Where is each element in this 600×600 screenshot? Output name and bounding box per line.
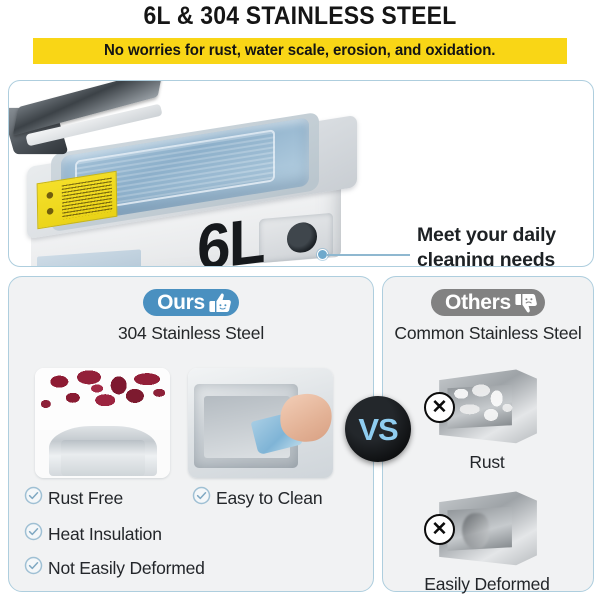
check-circle-icon	[24, 556, 43, 580]
x-circle-icon: ✕	[424, 392, 455, 423]
callout-line	[326, 254, 410, 256]
check-circle-icon	[24, 522, 43, 546]
x-circle-icon: ✕	[424, 514, 455, 545]
volume-overlay-label: 6L	[197, 208, 263, 267]
others-item-label: Rust	[382, 452, 592, 473]
feature-label: Rust Free	[48, 488, 123, 509]
subtitle-banner-text: No worries for rust, water scale, erosio…	[104, 42, 495, 60]
infographic-page: 6L & 304 STAINLESS STEEL No worries for …	[0, 0, 600, 600]
subtitle-banner: No worries for rust, water scale, erosio…	[33, 38, 567, 64]
photo-rust-free	[35, 368, 170, 478]
vs-label: VS	[358, 414, 397, 445]
others-badge-label: Others	[445, 291, 511, 315]
hero-panel: 6L Meet your daily cleaning needs	[8, 80, 594, 267]
warning-symbol-icon	[43, 187, 58, 221]
others-badge-row: Others	[383, 289, 593, 316]
thumbs-down-icon	[514, 292, 539, 314]
others-item-label: Easily Deformed	[382, 574, 592, 595]
others-badge: Others	[431, 289, 545, 316]
feature-heat-insulation: Heat Insulation	[24, 522, 162, 546]
rust-texture	[447, 382, 518, 429]
vs-badge: VS	[345, 396, 411, 462]
ours-badge-row: Ours	[9, 289, 373, 316]
feature-easy-to-clean: Easy to Clean	[192, 486, 322, 510]
ours-subtitle: 304 Stainless Steel	[9, 323, 373, 344]
rust-stain-spots	[35, 368, 170, 430]
ours-badge: Ours	[143, 289, 239, 316]
feature-label: Not Easily Deformed	[48, 558, 205, 579]
ours-badge-label: Ours	[157, 291, 205, 315]
callout-text: Meet your daily cleaning needs	[417, 223, 594, 267]
page-title: 6L & 304 STAINLESS STEEL	[24, 2, 576, 31]
check-circle-icon	[192, 486, 211, 510]
feature-not-easily-deformed: Not Easily Deformed	[24, 556, 205, 580]
feature-rust-free: Rust Free	[24, 486, 123, 510]
feature-label: Easy to Clean	[216, 488, 322, 509]
thumbs-up-icon	[208, 292, 233, 314]
photo-easy-clean	[188, 368, 333, 478]
dent-shape	[462, 513, 489, 549]
check-circle-icon	[24, 486, 43, 510]
clean-tank-shape	[49, 426, 157, 476]
feature-label: Heat Insulation	[48, 524, 162, 545]
others-subtitle: Common Stainless Steel	[383, 323, 593, 344]
